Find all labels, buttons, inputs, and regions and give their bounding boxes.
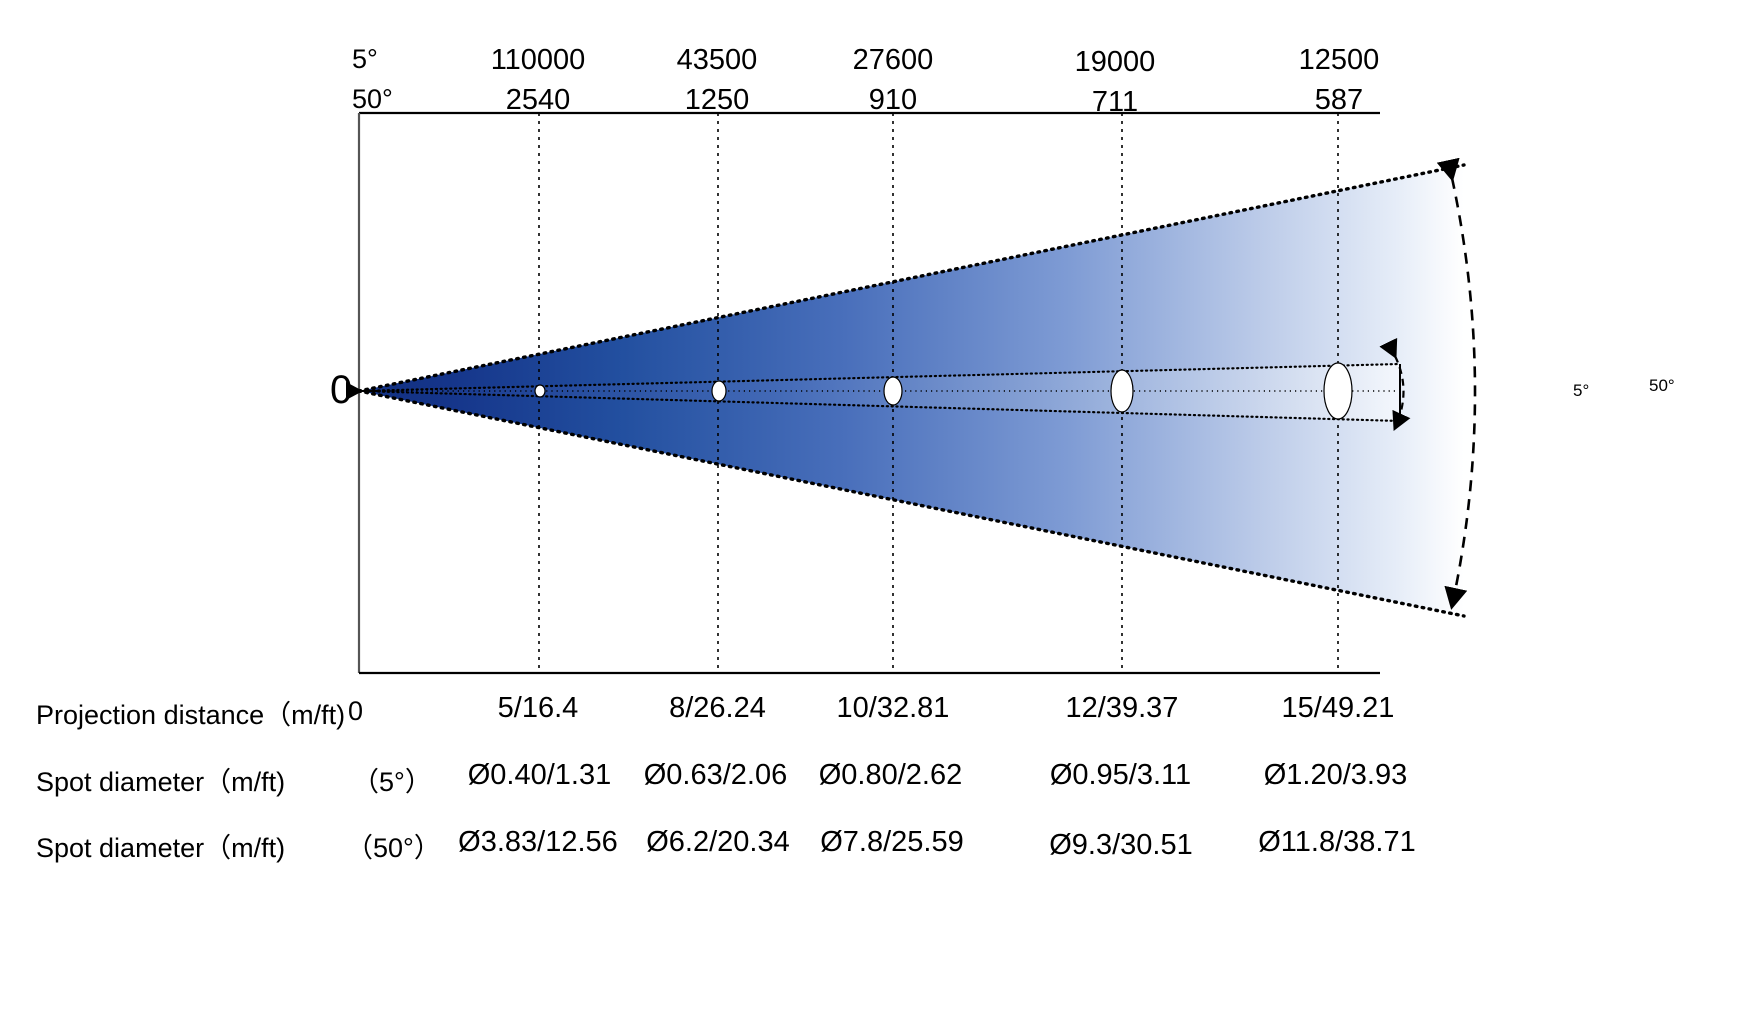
cell-projection-distance-c2: 8/26.24 bbox=[630, 692, 805, 725]
cell-spot-50deg-c3: Ø7.8/25.59 bbox=[797, 826, 987, 859]
row-label-spot-diameter-50deg: Spot diameter（m/ft) bbox=[36, 826, 285, 865]
spot-marker-d3 bbox=[884, 377, 902, 405]
row-label-projection-distance: Projection distance（m/ft) bbox=[36, 693, 345, 732]
cell-projection-distance-c5: 15/49.21 bbox=[1248, 692, 1428, 725]
cell-spot-50deg-c5: Ø11.8/38.71 bbox=[1242, 826, 1432, 859]
cell-spot-5deg-c1: Ø0.40/1.31 bbox=[447, 759, 632, 792]
diagram-canvas: 5° 50° 110000 43500 27600 19000 12500 25… bbox=[0, 0, 1754, 1032]
row-sub-spot-diameter-5deg: （5°） bbox=[352, 760, 432, 799]
spot-marker-d5 bbox=[1324, 363, 1352, 419]
cell-spot-50deg-c4: Ø9.3/30.51 bbox=[1026, 829, 1216, 862]
spot-marker-d1 bbox=[535, 385, 545, 397]
cell-spot-50deg-c1: Ø3.83/12.56 bbox=[440, 826, 636, 859]
cell-spot-5deg-c4: Ø0.95/3.11 bbox=[1028, 759, 1213, 792]
cell-projection-distance-c1: 5/16.4 bbox=[453, 692, 623, 725]
spot-marker-d4 bbox=[1111, 370, 1133, 412]
cell-spot-5deg-c5: Ø1.20/3.93 bbox=[1243, 759, 1428, 792]
beam-diagram-svg bbox=[0, 0, 1754, 1032]
cell-spot-50deg-c2: Ø6.2/20.34 bbox=[623, 826, 813, 859]
cell-projection-distance-c3: 10/32.81 bbox=[803, 692, 983, 725]
row-projection-distance-zero: 0 bbox=[348, 696, 363, 727]
angle-label-5deg: 5° bbox=[1573, 381, 1589, 401]
cell-spot-5deg-c2: Ø0.63/2.06 bbox=[623, 759, 808, 792]
row-sub-spot-diameter-50deg: （50°） bbox=[346, 826, 441, 865]
spot-marker-d2 bbox=[712, 381, 726, 401]
cell-spot-5deg-c3: Ø0.80/2.62 bbox=[798, 759, 983, 792]
origin-label: 0 bbox=[330, 368, 352, 413]
row-label-spot-diameter-5deg: Spot diameter（m/ft) bbox=[36, 760, 285, 799]
cell-projection-distance-c4: 12/39.37 bbox=[1032, 692, 1212, 725]
angle-label-50deg: 50° bbox=[1649, 376, 1675, 396]
